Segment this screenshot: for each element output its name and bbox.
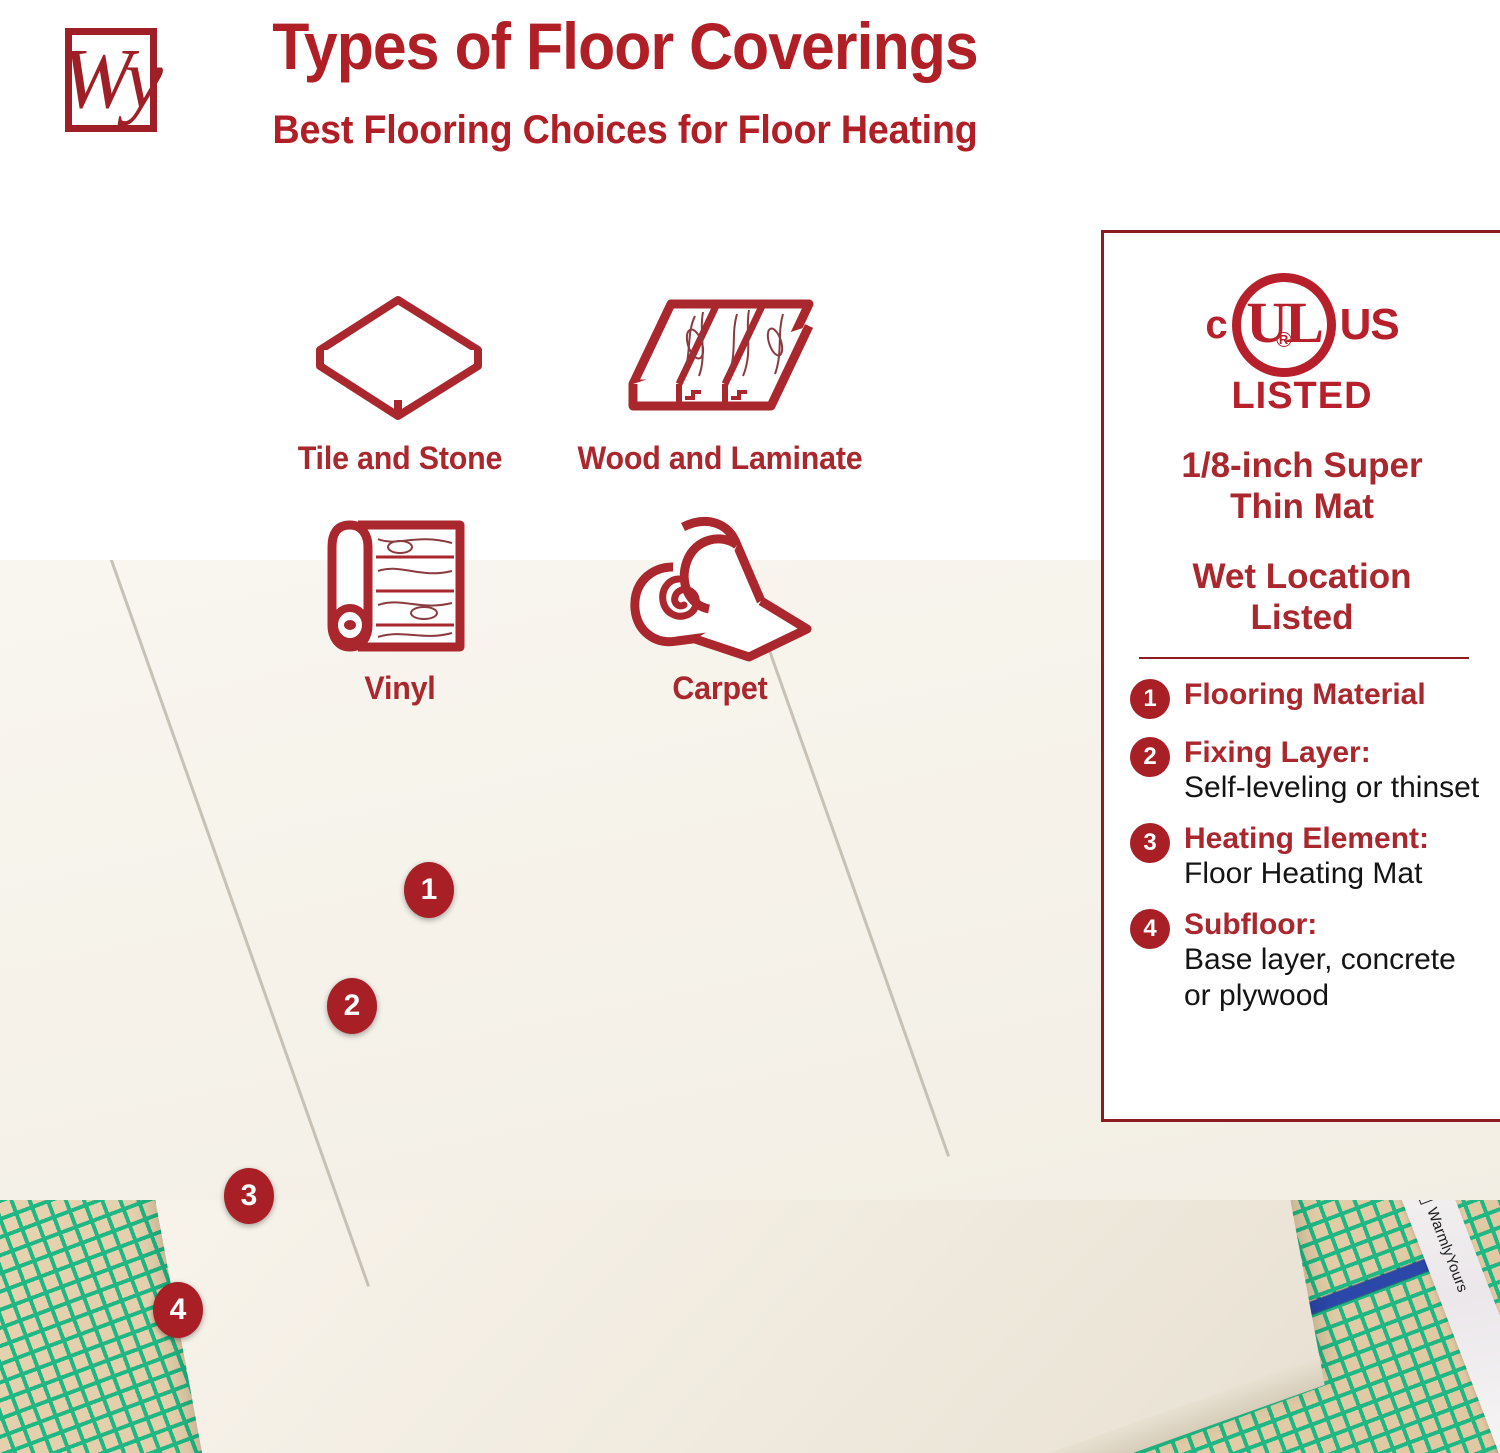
legend-badge-2: 2: [1130, 737, 1170, 777]
callout-badge-2: 2: [327, 978, 377, 1034]
callout-badge-3: 3: [224, 1168, 274, 1224]
panel-divider: [1139, 657, 1469, 659]
spec-line-3: Wet Location: [1126, 556, 1478, 597]
ul-circle-icon: UL R: [1232, 273, 1336, 377]
wood-and-laminate-icon: [555, 275, 885, 440]
covering-label: Wood and Laminate: [563, 440, 877, 477]
spec-line-2: Thin Mat: [1126, 486, 1478, 527]
header: Wy Types of Floor Coverings Best Floorin…: [0, 0, 1500, 180]
covering-label: Tile and Stone: [243, 440, 557, 477]
vinyl-roll-icon: [235, 505, 565, 670]
legend-item-1: 1 Flooring Material: [1130, 677, 1490, 719]
callout-badge-4: 4: [153, 1282, 203, 1338]
legend-sub-4: Base layer, concrete or plywood: [1184, 942, 1490, 1012]
tile-edge: [254, 1357, 1324, 1453]
legend-title-3: Heating Element:: [1184, 821, 1429, 856]
legend-badge-1: 1: [1130, 679, 1170, 719]
layer-legend-list: 1 Flooring Material 2 Fixing Layer: Self…: [1130, 677, 1490, 1029]
legend-title-2: Fixing Layer:: [1184, 735, 1479, 770]
ul-listed-label: LISTED: [1104, 375, 1500, 418]
spec-wet-location: Wet Location Listed: [1126, 556, 1478, 639]
registered-trademark-icon: R: [1276, 332, 1291, 347]
ul-listed-mark: c UL R US LISTED: [1104, 271, 1500, 421]
spec-line-4: Listed: [1126, 597, 1478, 638]
covering-tile-and-stone[interactable]: Tile and Stone: [235, 275, 565, 477]
legend-badge-4: 4: [1130, 909, 1170, 949]
covering-carpet[interactable]: Carpet: [555, 505, 885, 707]
spec-line-1: 1/8-inch Super: [1126, 445, 1478, 486]
spec-legend-panel: c UL R US LISTED 1/8-inch Super Thin Mat…: [1101, 230, 1500, 1122]
spec-thin-mat: 1/8-inch Super Thin Mat: [1126, 445, 1478, 528]
covering-wood-and-laminate[interactable]: Wood and Laminate: [555, 275, 885, 477]
legend-item-3: 3 Heating Element: Floor Heating Mat: [1130, 821, 1490, 891]
covering-label: Carpet: [563, 670, 877, 707]
callout-badge-1: 1: [404, 862, 454, 918]
legend-sub-2: Self-leveling or thinset: [1184, 770, 1479, 805]
tile-and-stone-icon: [235, 275, 565, 440]
legend-badge-3: 3: [1130, 823, 1170, 863]
legend-title-4: Subfloor:: [1184, 907, 1490, 942]
ul-prefix-c: c: [1205, 303, 1227, 348]
legend-sub-3: Floor Heating Mat: [1184, 856, 1429, 891]
page-subtitle: Best Flooring Choices for Floor Heating: [38, 108, 1213, 153]
page-title: Types of Floor Coverings: [50, 8, 1200, 84]
legend-item-2: 2 Fixing Layer: Self-leveling or thinset: [1130, 735, 1490, 805]
infographic-stage: Wy WarmlyYours Wy WarmlyYours Wy WarmlyY…: [0, 0, 1500, 1453]
ul-suffix-us: US: [1340, 300, 1399, 350]
covering-label: Vinyl: [243, 670, 557, 707]
legend-title-1: Flooring Material: [1184, 677, 1426, 712]
carpet-roll-icon: [555, 505, 885, 670]
covering-vinyl[interactable]: Vinyl: [235, 505, 565, 707]
floor-covering-icon-grid: Tile and Stone Wood and L: [235, 275, 935, 755]
legend-item-4: 4 Subfloor: Base layer, concrete or plyw…: [1130, 907, 1490, 1012]
